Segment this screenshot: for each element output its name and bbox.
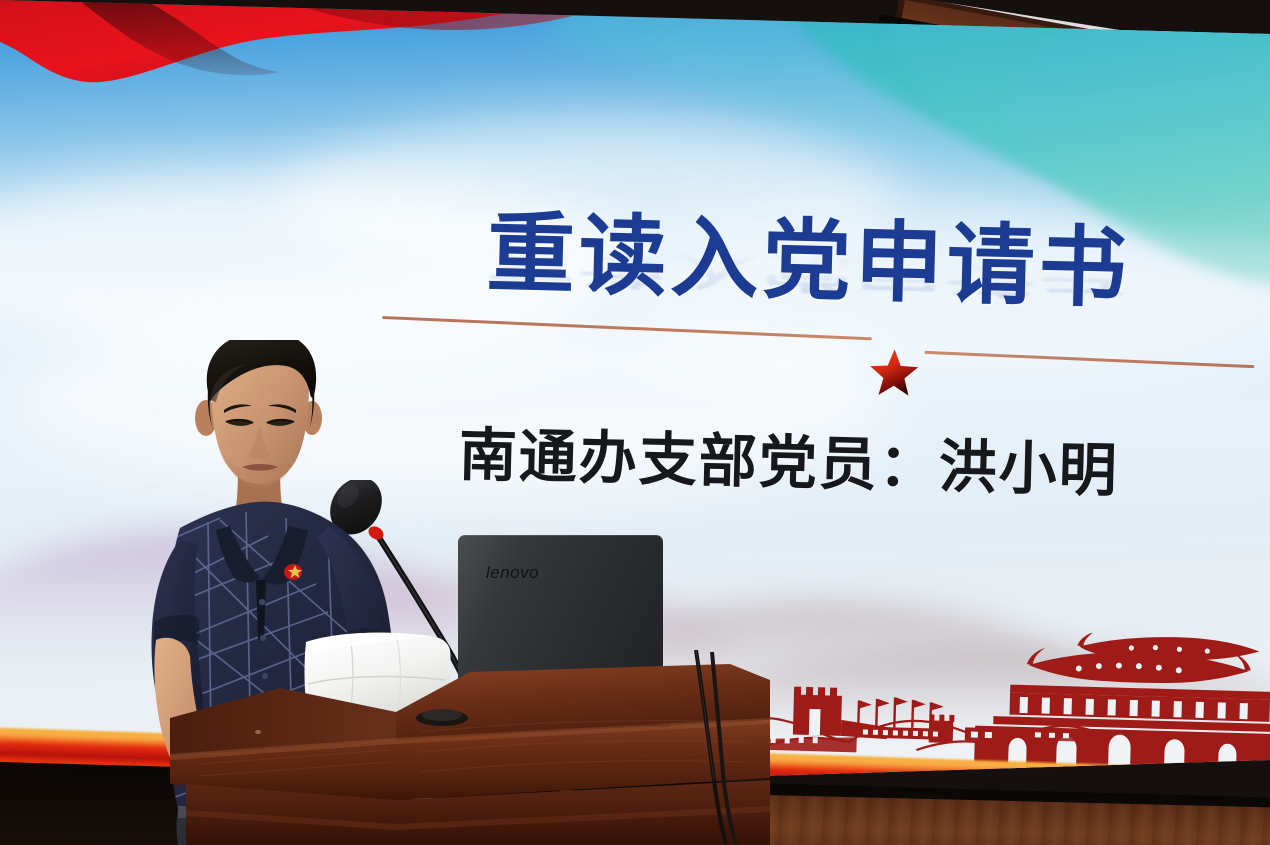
divider-rule-right [925,351,1255,368]
red-star-icon [868,348,919,397]
divider-rule-left [382,316,872,340]
lenovo-logo: lenovo [486,563,539,583]
slide-subtitle: 南通办支部党员：洪小明 [458,408,1120,508]
party-badge [284,564,302,580]
podium-cables [660,650,780,845]
slide-title: 重读入党申请书 [485,182,1132,325]
photo-scene: 重读入党申请书 重读入党申请书 南通办支 [0,0,1270,845]
